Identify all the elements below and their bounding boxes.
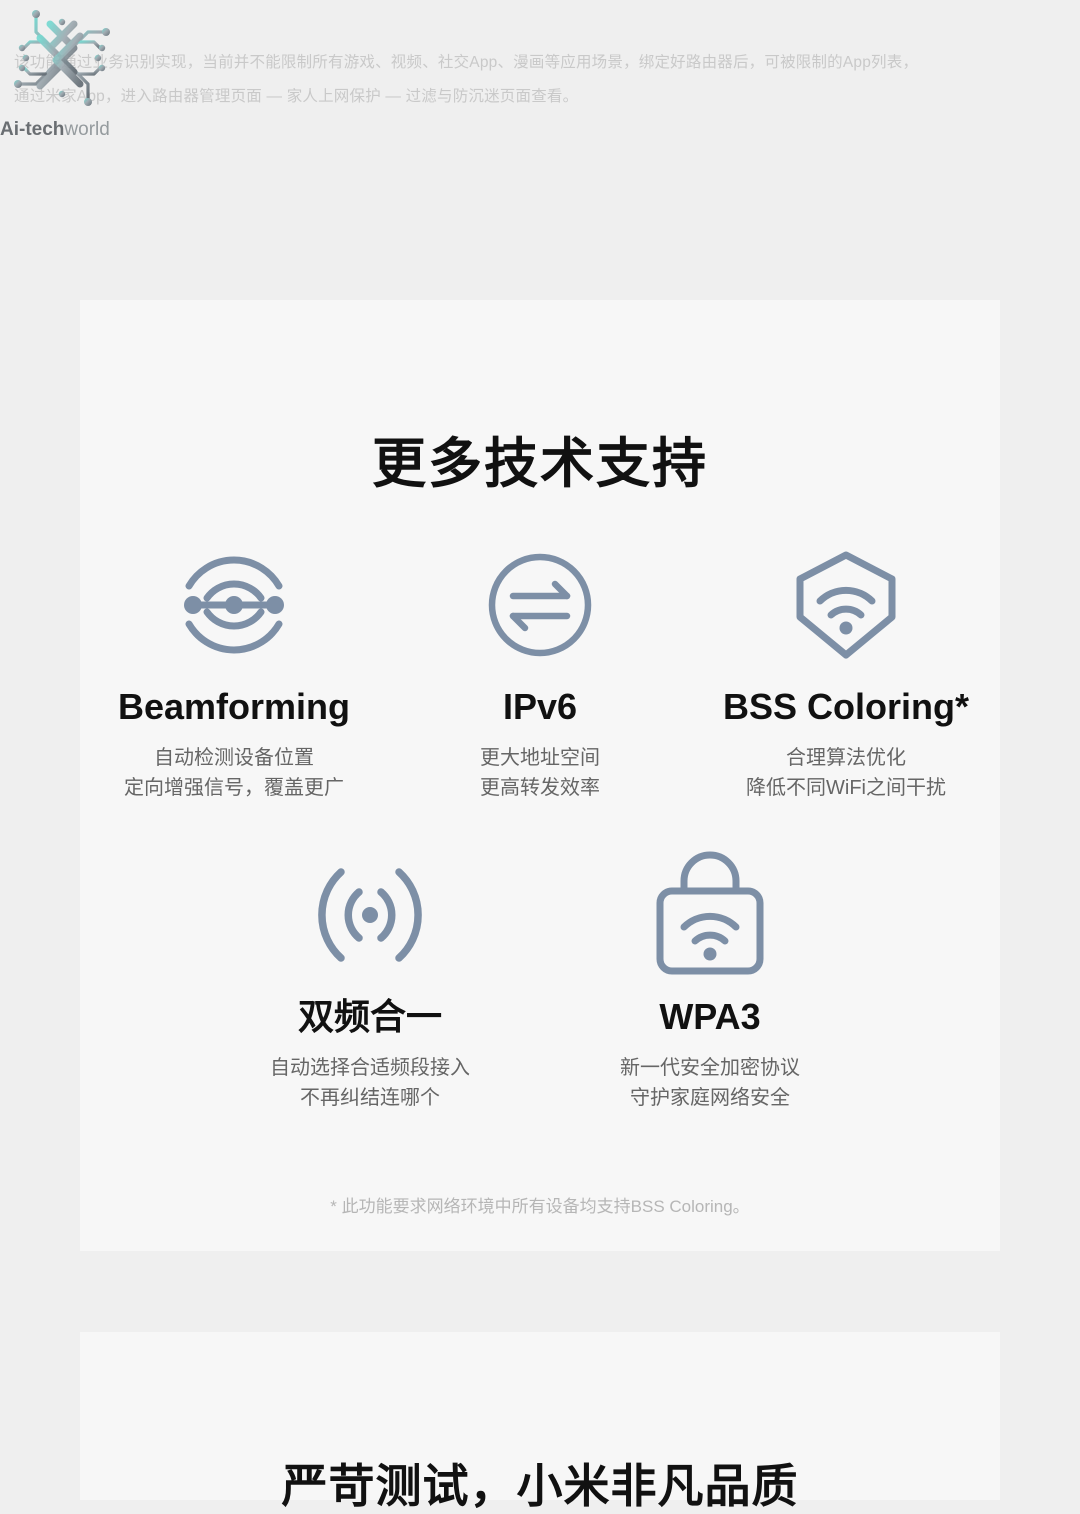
page-title: 更多技术支持 <box>80 432 1000 496</box>
feature-description: 新一代安全加密协议 守护家庭网络安全 <box>620 1053 800 1113</box>
top-disclaimer-text: 该功能通过业务识别实现，当前并不能限制所有游戏、视频、社交App、漫画等应用场景… <box>0 46 1080 114</box>
quality-section-title: 严苛测试，小米非凡品质 <box>80 1458 1000 1514</box>
bss-coloring-shield-wifi-icon <box>780 535 912 675</box>
feature-ipv6: IPv6 更大地址空间 更高转发效率 <box>387 535 693 803</box>
footnote-text: * 此功能要求网络环境中所有设备均支持BSS Coloring。 <box>80 1195 1000 1219</box>
feature-title: 双频合一 <box>298 995 442 1039</box>
feature-row-1: Beamforming 自动检测设备位置 定向增强信号，覆盖更广 IPv6 更大… <box>80 535 1000 803</box>
feature-description: 自动选择合适频段接入 不再纠结连哪个 <box>270 1053 470 1113</box>
quality-section-card: 严苛测试，小米非凡品质 <box>80 1332 1000 1500</box>
watermark-brand-light: world <box>64 119 109 140</box>
feature-description: 自动检测设备位置 定向增强信号，覆盖更广 <box>124 743 344 803</box>
feature-bss-coloring: BSS Coloring* 合理算法优化 降低不同WiFi之间干扰 <box>693 535 999 803</box>
watermark-brand-text: Ai-techworld <box>0 118 124 142</box>
feature-title: WPA3 <box>659 995 760 1039</box>
feature-title: BSS Coloring* <box>723 685 969 729</box>
watermark-brand-bold: Ai-tech <box>0 119 64 140</box>
feature-description: 更大地址空间 更高转发效率 <box>480 743 600 803</box>
dual-band-signal-icon <box>307 845 433 985</box>
beamforming-icon <box>171 535 297 675</box>
feature-dual-band: 双频合一 自动选择合适频段接入 不再纠结连哪个 <box>200 845 540 1113</box>
feature-beamforming: Beamforming 自动检测设备位置 定向增强信号，覆盖更广 <box>81 535 387 803</box>
feature-description: 合理算法优化 降低不同WiFi之间干扰 <box>746 743 946 803</box>
ipv6-exchange-icon <box>477 535 603 675</box>
wpa3-lock-wifi-icon <box>644 845 776 985</box>
feature-title: IPv6 <box>503 685 577 729</box>
feature-wpa3: WPA3 新一代安全加密协议 守护家庭网络安全 <box>540 845 880 1113</box>
tech-support-card: 更多技术支持 <box>80 300 1000 1251</box>
feature-title: Beamforming <box>118 685 350 729</box>
feature-row-2: 双频合一 自动选择合适频段接入 不再纠结连哪个 WPA3 新一代安全加密协议 守… <box>80 845 1000 1113</box>
